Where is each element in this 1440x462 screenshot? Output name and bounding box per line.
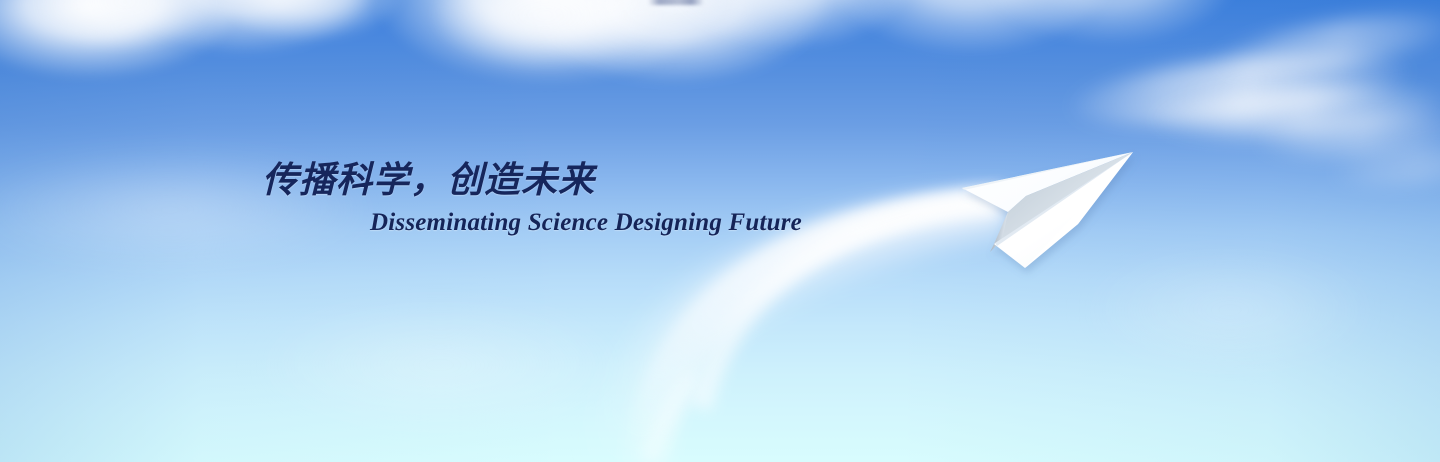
paper-airplane-icon	[950, 140, 1150, 280]
contrail-layer	[0, 0, 1440, 462]
contrail-svg	[0, 0, 1440, 462]
paper-airplane-body	[962, 152, 1133, 268]
paper-airplane-svg	[950, 140, 1150, 280]
sky-banner: 传播科学，创造未来 Disseminating Science Designin…	[0, 0, 1440, 462]
